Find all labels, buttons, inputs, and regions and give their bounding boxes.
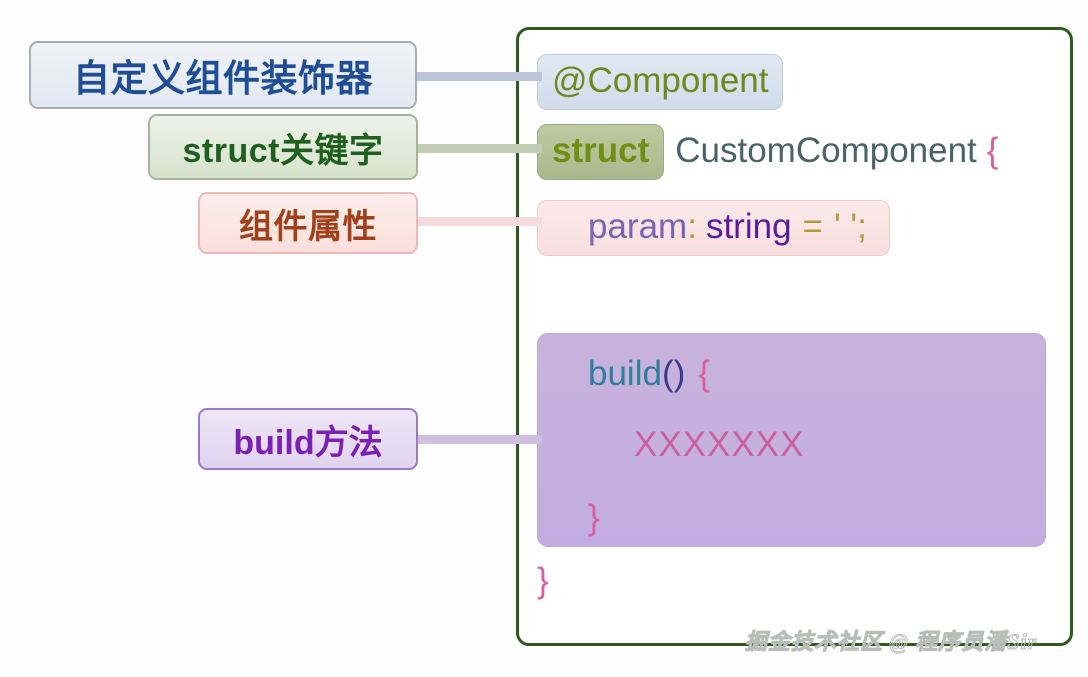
code-token-param-name: param [588,207,687,246]
code-token-param-type: string [706,207,792,246]
code-token-param-semicolon: ; [857,207,867,246]
code-token-open-brace: { [987,131,999,170]
code-line-param: param:string=' '; [537,200,890,256]
annotation-label-build-method-text: build方法 [233,415,382,464]
code-panel-body: @Component structCustomComponent{ param:… [519,30,1070,643]
code-token-build-open-brace: { [698,354,710,393]
code-line-struct-close: } [537,563,549,598]
code-token-build-placeholder: XXXXXXX [634,425,804,464]
watermark: 掘金技术社区 @ 程序员潘Sir [745,624,1037,656]
code-line-decorator: @Component [537,54,783,110]
annotation-label-build-method: build方法 [198,408,418,470]
connector-line-decorator [412,72,542,81]
code-token-build-parens: () [662,354,685,393]
code-token-decorator: @Component [537,54,783,110]
annotation-label-component-property-text: 组件属性 [239,199,377,248]
annotation-label-decorator-text: 自定义组件装饰器 [73,48,373,102]
code-block-build-method: build(){ XXXXXXX } [537,333,1046,547]
code-token-close-brace: } [537,561,549,600]
code-token-struct-keyword: struct [537,124,664,180]
connector-line-struct [412,144,542,153]
code-token-param-value: ' ' [834,207,857,246]
code-token-build-close-brace: } [588,498,600,537]
connector-line-build [412,435,542,444]
code-token-param-colon: : [687,207,697,246]
code-line-build-body: XXXXXXX [634,427,804,462]
code-panel: @Component structCustomComponent{ param:… [516,27,1073,646]
annotation-label-struct-keyword: struct关键字 [148,114,418,180]
connector-line-property [412,217,542,226]
annotation-label-component-property: 组件属性 [198,192,418,254]
code-line-struct: structCustomComponent{ [537,124,999,180]
code-token-struct-name: CustomComponent [675,131,977,170]
code-line-build-close: } [588,500,600,535]
annotation-label-decorator: 自定义组件装饰器 [29,41,417,109]
code-token-build-name: build [588,354,662,393]
code-line-build-signature: build(){ [588,356,710,391]
code-token-param-assign: = [803,207,823,246]
code-token-param-pill: param:string=' '; [537,200,890,256]
annotation-label-struct-keyword-text: struct关键字 [183,123,384,172]
